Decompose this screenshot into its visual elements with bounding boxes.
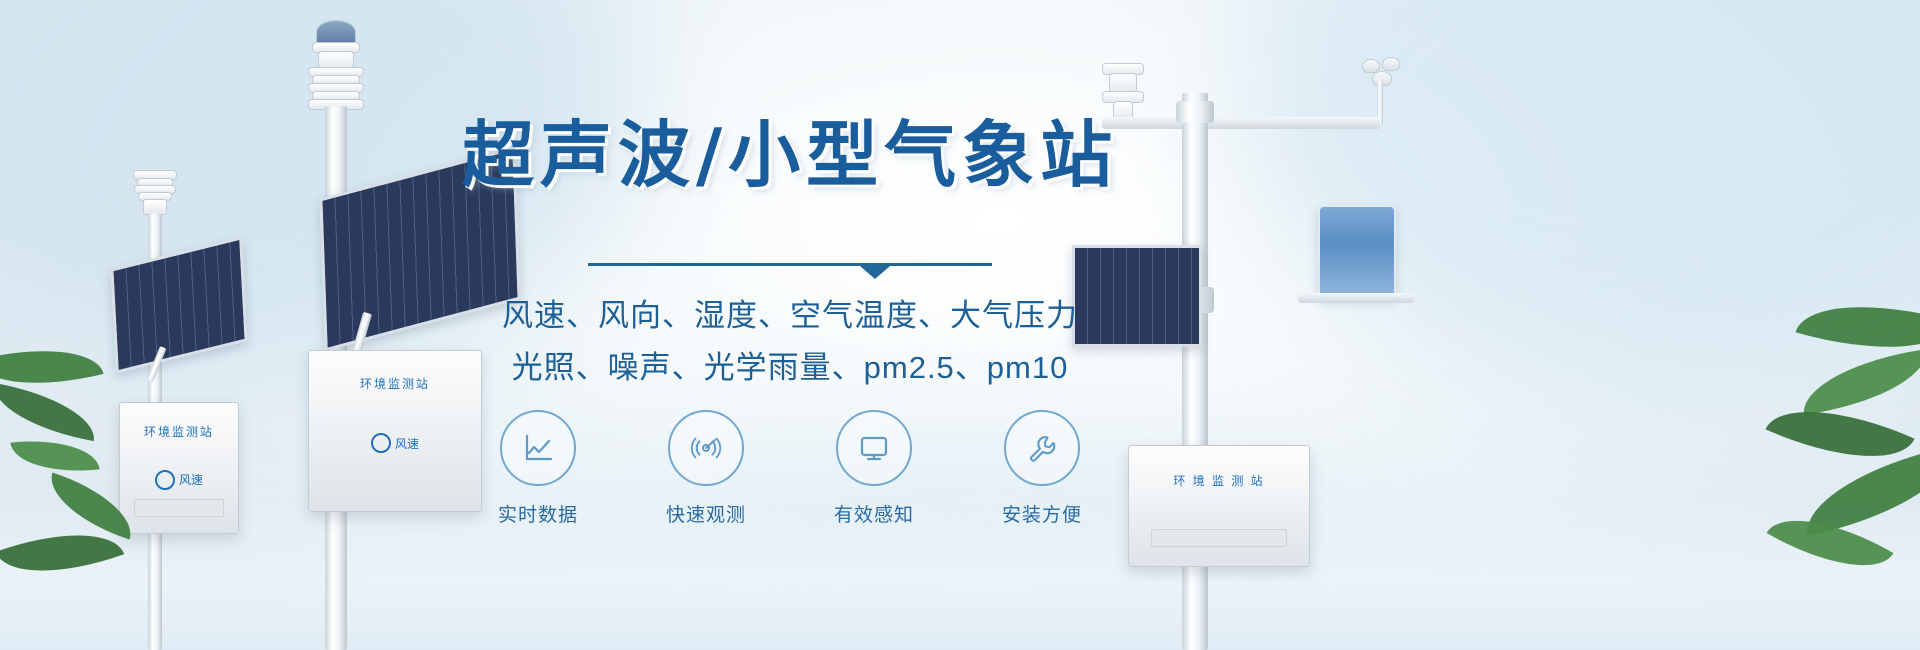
feature-label: 实时数据 — [483, 500, 593, 527]
leaf-decoration — [10, 434, 99, 479]
control-box-left: 环境监测站 风速 — [119, 402, 239, 534]
divider-rule — [588, 263, 992, 266]
feature-label: 快速观测 — [651, 500, 761, 527]
anemometer-cup — [1382, 57, 1400, 71]
brand-name: 风速 — [179, 471, 203, 488]
title-divider — [420, 258, 1160, 280]
leaf-decoration — [1797, 349, 1920, 415]
leaf-decoration — [0, 383, 101, 441]
box-vent — [134, 499, 224, 517]
rain-gauge-shelf — [1298, 293, 1414, 303]
brand-logo-icon — [155, 470, 175, 490]
line-chart-icon — [500, 410, 576, 486]
sensor-head-left — [125, 170, 185, 220]
banner-content: 超声波/小型气象站 风速、风向、湿度、空气温度、大气压力 光照、噪声、光学雨量、… — [420, 0, 1160, 650]
monitor-screen-icon — [836, 410, 912, 486]
solar-panel-left — [110, 236, 247, 373]
subtitle-line-1: 风速、风向、湿度、空气温度、大气压力 — [420, 290, 1160, 342]
feature-label: 安装方便 — [987, 500, 1097, 527]
wrench-icon — [1004, 410, 1080, 486]
equipment-label: 环境监测站 — [120, 421, 238, 441]
feature-label: 有效感知 — [819, 500, 929, 527]
subtitle-block: 风速、风向、湿度、空气温度、大气压力 光照、噪声、光学雨量、pm2.5、pm10 — [420, 290, 1160, 394]
feature-item-effective-sensing[interactable]: 有效感知 — [819, 410, 929, 527]
sensor-body — [143, 199, 167, 215]
mast-collar — [1176, 101, 1214, 123]
product-banner: 环境监测站 风速 环境监测站 风 — [0, 0, 1920, 650]
ultrasonic-dome-icon — [316, 20, 356, 44]
subtitle-line-2: 光照、噪声、光学雨量、pm2.5、pm10 — [420, 342, 1160, 394]
brand-logo-icon — [371, 433, 391, 453]
radar-signal-icon — [668, 410, 744, 486]
page-title: 超声波/小型气象站 — [420, 112, 1160, 198]
feature-item-fast-observation[interactable]: 快速观测 — [651, 410, 761, 527]
brand-badge: 风速 — [120, 471, 238, 489]
divider-triangle-icon — [860, 266, 890, 279]
rain-gauge — [1318, 205, 1396, 299]
feature-list: 实时数据 快速观测 — [420, 410, 1160, 527]
box-vent — [1151, 529, 1288, 547]
brand-name: 风速 — [395, 435, 419, 452]
feature-item-realtime-data[interactable]: 实时数据 — [483, 410, 593, 527]
anemometer-right — [1360, 55, 1400, 125]
sensor-head-center — [296, 20, 376, 116]
feature-item-easy-installation[interactable]: 安装方便 — [987, 410, 1097, 527]
